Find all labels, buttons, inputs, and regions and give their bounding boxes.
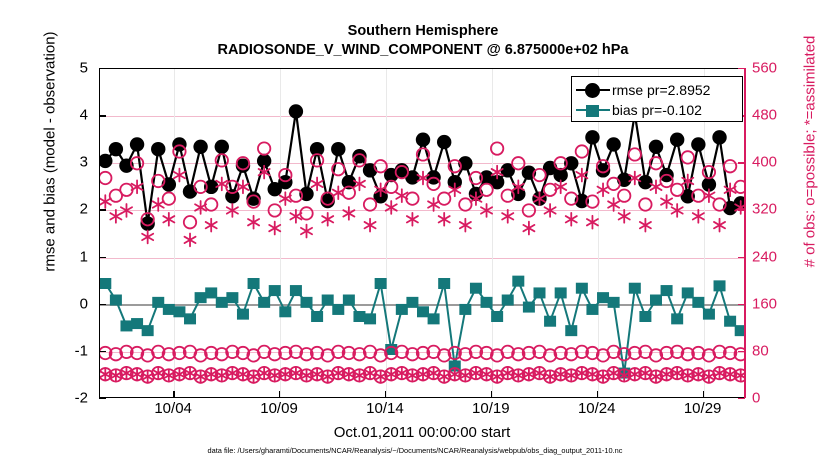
legend-item-rmse[interactable]: rmse pr=2.8952 [576,80,738,100]
right-axis-spine [744,68,746,398]
x-tick-label: 10/29 [668,400,738,417]
right-tick-label: 160 [752,295,792,312]
right-tick-mark [738,209,745,210]
x-tick-mark [703,391,704,398]
left-tick-mark [99,351,106,352]
right-tick-label: 560 [752,60,792,77]
left-tick-label: 0 [52,295,88,312]
data-file-note: data file: /Users/gharamti/Documents/NCA… [0,446,830,455]
left-tick-mark [99,304,106,305]
left-tick-label: -2 [52,390,88,407]
series-filled-square [99,276,745,379]
legend[interactable]: rmse pr=2.8952 bias pr=-0.102 [571,76,743,122]
figure-root: Southern Hemisphere RADIOSONDE_V_WIND_CO… [0,0,830,470]
right-tick-mark [738,68,745,69]
x-axis-label: Oct.01,2011 00:00:00 start [99,424,745,441]
x-tick-label: 10/24 [562,400,632,417]
x-tick-mark [173,391,174,398]
x-tick-mark [597,391,598,398]
right-tick-label: 80 [752,342,792,359]
series-filled-circle [99,104,745,231]
left-tick-mark [99,398,106,399]
right-tick-label: 480 [752,107,792,124]
legend-label-rmse: rmse pr=2.8952 [610,82,710,98]
x-tick-label: 10/19 [456,400,526,417]
right-axis-label: # of obs: o=possible; *=assimilated [802,2,819,302]
x-tick-label: 10/14 [350,400,420,417]
right-tick-mark [738,351,745,352]
right-tick-mark [738,304,745,305]
chart-title: Southern Hemisphere RADIOSONDE_V_WIND_CO… [100,22,746,60]
series-asterisk-circle [99,367,745,383]
right-tick-label: 0 [752,390,792,407]
chart-title-line1: Southern Hemisphere [100,22,746,41]
right-tick-label: 320 [752,201,792,218]
right-tick-mark [738,162,745,163]
left-tick-mark [99,257,106,258]
chart-title-line2: RADIOSONDE_V_WIND_COMPONENT @ 6.875000e+… [100,41,746,60]
bias-marker-icon [576,101,610,119]
right-tick-label: 400 [752,154,792,171]
x-tick-mark [491,391,492,398]
x-tick-mark [385,391,386,398]
x-tick-mark [279,391,280,398]
left-tick-mark [99,68,106,69]
right-tick-mark [738,257,745,258]
left-tick-mark [99,209,106,210]
left-tick-mark [99,162,106,163]
left-axis-label: rmse and bias (model - observation) [42,17,59,287]
legend-item-bias[interactable]: bias pr=-0.102 [576,100,738,120]
right-tick-mark [738,398,745,399]
left-tick-mark [99,115,106,116]
rmse-marker-icon [576,81,610,99]
left-tick-label: -1 [52,342,88,359]
right-tick-label: 240 [752,248,792,265]
legend-label-bias: bias pr=-0.102 [610,102,702,118]
series-open-circle [99,346,745,362]
x-tick-label: 10/04 [138,400,208,417]
x-tick-label: 10/09 [244,400,314,417]
